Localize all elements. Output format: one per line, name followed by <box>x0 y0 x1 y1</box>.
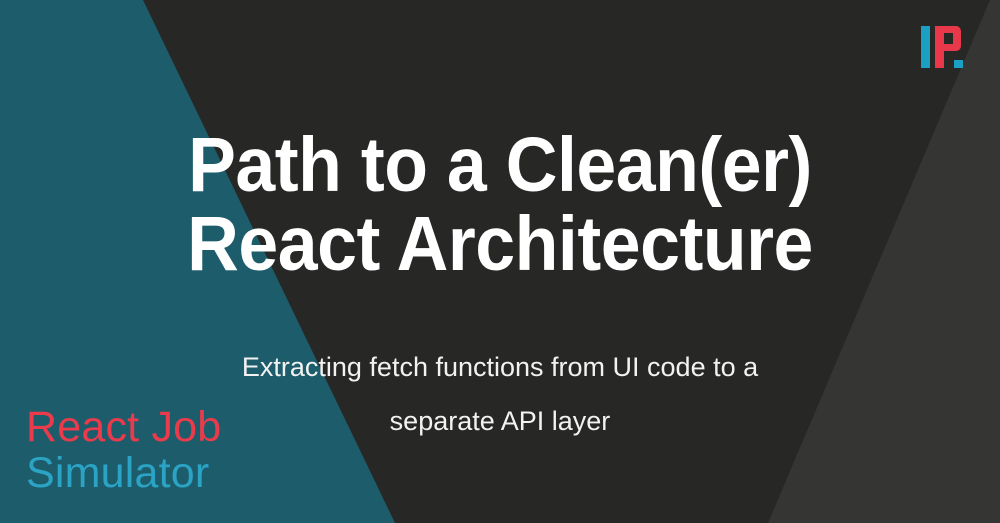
logo-dot-icon <box>954 60 963 68</box>
brand-line-simulator: Simulator <box>26 450 221 496</box>
social-share-card: Path to a Clean(er) React Architecture E… <box>0 0 1000 523</box>
logo-p-notch <box>944 33 953 44</box>
page-subtitle: Extracting fetch functions from UI code … <box>180 340 820 448</box>
brand-line-react-job: React Job <box>26 404 221 450</box>
page-title: Path to a Clean(er) React Architecture <box>35 126 965 284</box>
logo-p-stem <box>935 26 944 68</box>
profy-logo <box>921 26 971 68</box>
logo-bar-icon <box>921 26 930 68</box>
brand-lockup: React Job Simulator <box>26 404 221 496</box>
